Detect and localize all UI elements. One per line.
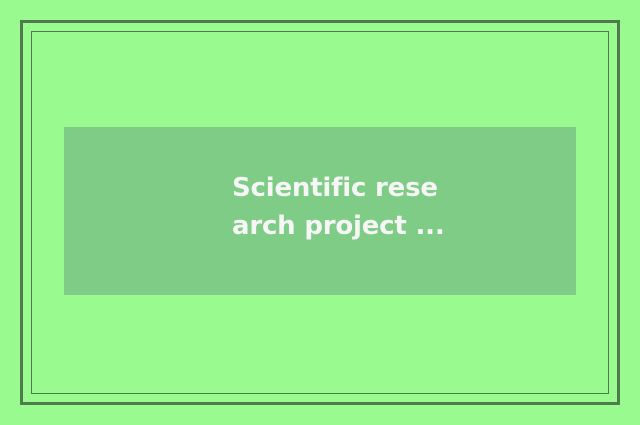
title-line-1: Scientific rese [232, 169, 562, 207]
title-banner-panel: Scientific rese arch project ... [64, 127, 576, 295]
card-canvas: Scientific rese arch project ... [0, 0, 640, 425]
title-text-block: Scientific rese arch project ... [232, 169, 562, 245]
title-line-2: arch project ... [232, 207, 562, 245]
